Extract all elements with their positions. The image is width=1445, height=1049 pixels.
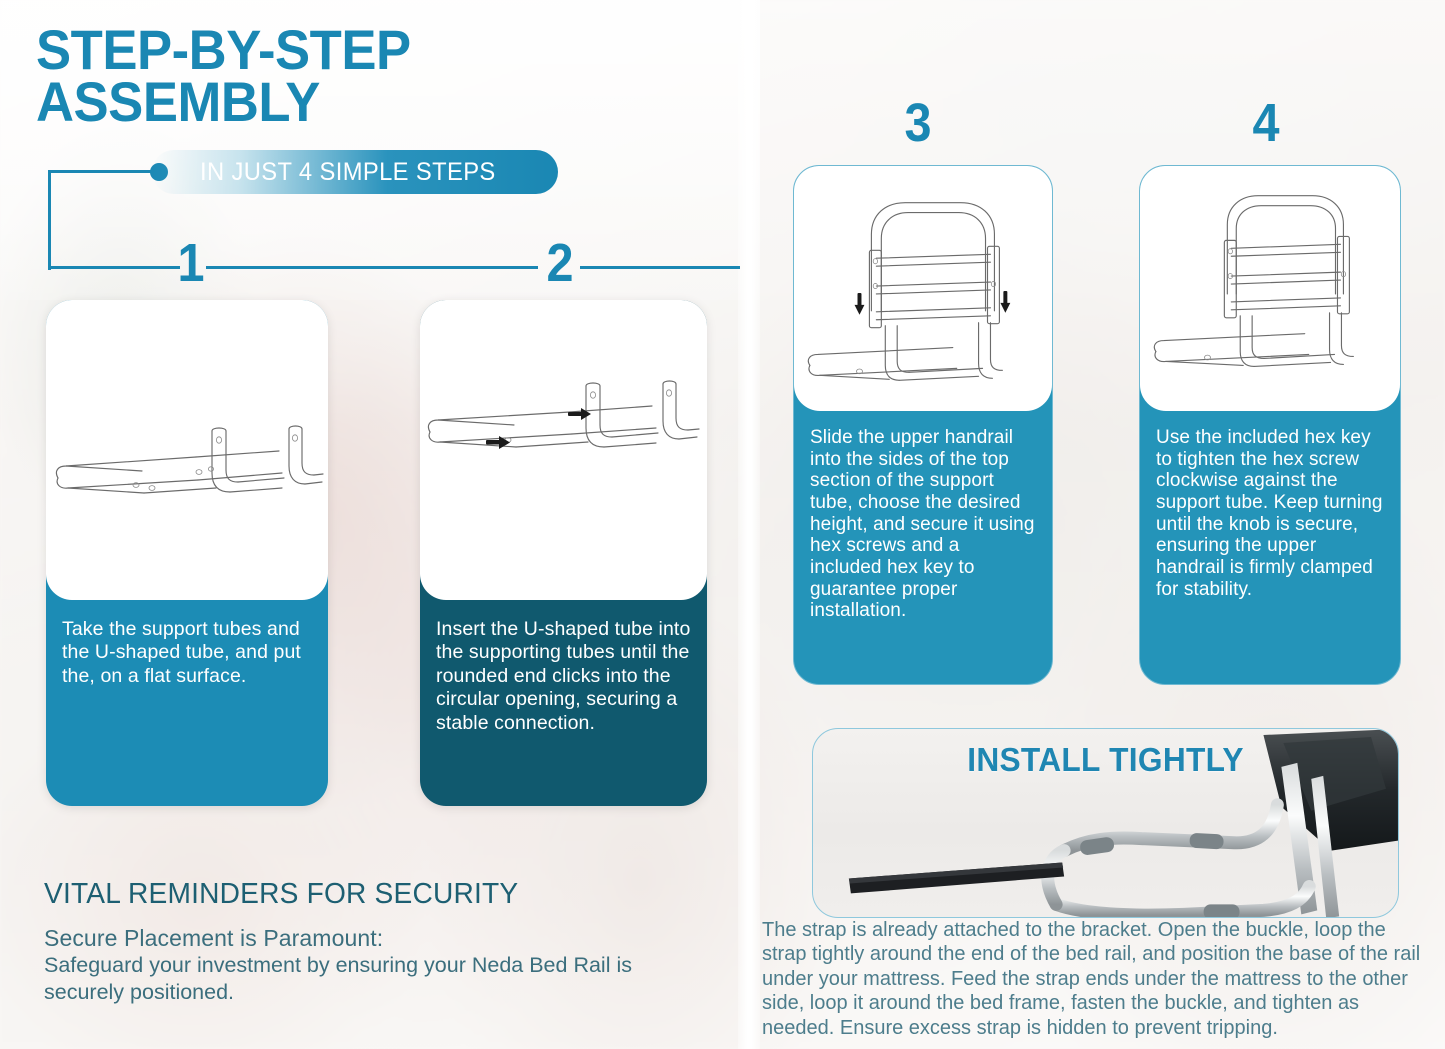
subtitle-pill: IN JUST 4 SIMPLE STEPS <box>152 150 558 194</box>
step-1-text: Take the support tubes and the U-shaped … <box>46 600 328 806</box>
slide-down-arrow-right-icon <box>1000 291 1010 313</box>
step-number-2: 2 <box>547 236 574 290</box>
step-3-illustration <box>794 166 1052 411</box>
step-number-4: 4 <box>1253 96 1280 150</box>
install-tightly-title: INSTALL TIGHTLY <box>825 741 1387 779</box>
step-number-1: 1 <box>178 236 205 290</box>
insertion-arrow-upper-icon <box>568 408 591 420</box>
step-card-1: Take the support tubes and the U-shaped … <box>46 300 328 806</box>
page-title-line-1: STEP-BY-STEP <box>36 24 685 76</box>
connector-horizontal-top <box>48 170 158 173</box>
reminders-subtitle: Secure Placement is Paramount: <box>44 925 383 952</box>
page-title: STEP-BY-STEP ASSEMBLY <box>36 24 685 128</box>
install-tightly-body: The strap is already attached to the bra… <box>762 918 1432 1040</box>
tube-insertion-diagram-icon <box>420 300 707 600</box>
connector-vertical <box>48 170 51 270</box>
step-card-4: Use the included hex key to tighten the … <box>1139 165 1401 685</box>
step-2-text: Insert the U-shaped tube into the suppor… <box>420 600 707 806</box>
step-number-3: 3 <box>905 96 932 150</box>
step-rail-segment-c <box>580 266 740 269</box>
panel-divider <box>738 0 760 1049</box>
reminders-title: VITAL REMINDERS FOR SECURITY <box>44 878 518 911</box>
assembled-bed-rail-diagram-icon <box>1140 166 1400 411</box>
infographic-page: STEP-BY-STEP ASSEMBLY IN JUST 4 SIMPLE S… <box>0 0 1445 1049</box>
slide-down-arrow-left-icon <box>855 293 865 315</box>
step-card-3: Slide the upper handrail into the sides … <box>793 165 1053 685</box>
step-3-text: Slide the upper handrail into the sides … <box>794 411 1052 684</box>
step-card-2: Insert the U-shaped tube into the suppor… <box>420 300 707 806</box>
page-title-line-2: ASSEMBLY <box>36 76 685 128</box>
subtitle-text: IN JUST 4 SIMPLE STEPS <box>200 158 496 187</box>
step-4-text: Use the included hex key to tighten the … <box>1140 411 1400 684</box>
connector-horizontal-bottom <box>48 266 158 269</box>
step-2-illustration <box>420 300 707 600</box>
install-tightly-card: INSTALL TIGHTLY <box>812 728 1399 918</box>
tubes-parts-diagram-icon <box>46 300 328 600</box>
reminders-body: Safeguard your investment by ensuring yo… <box>44 952 704 1005</box>
handrail-slide-diagram-icon <box>794 166 1052 411</box>
step-4-illustration <box>1140 166 1400 411</box>
step-rail-segment-b <box>206 266 538 269</box>
step-1-illustration <box>46 300 328 600</box>
